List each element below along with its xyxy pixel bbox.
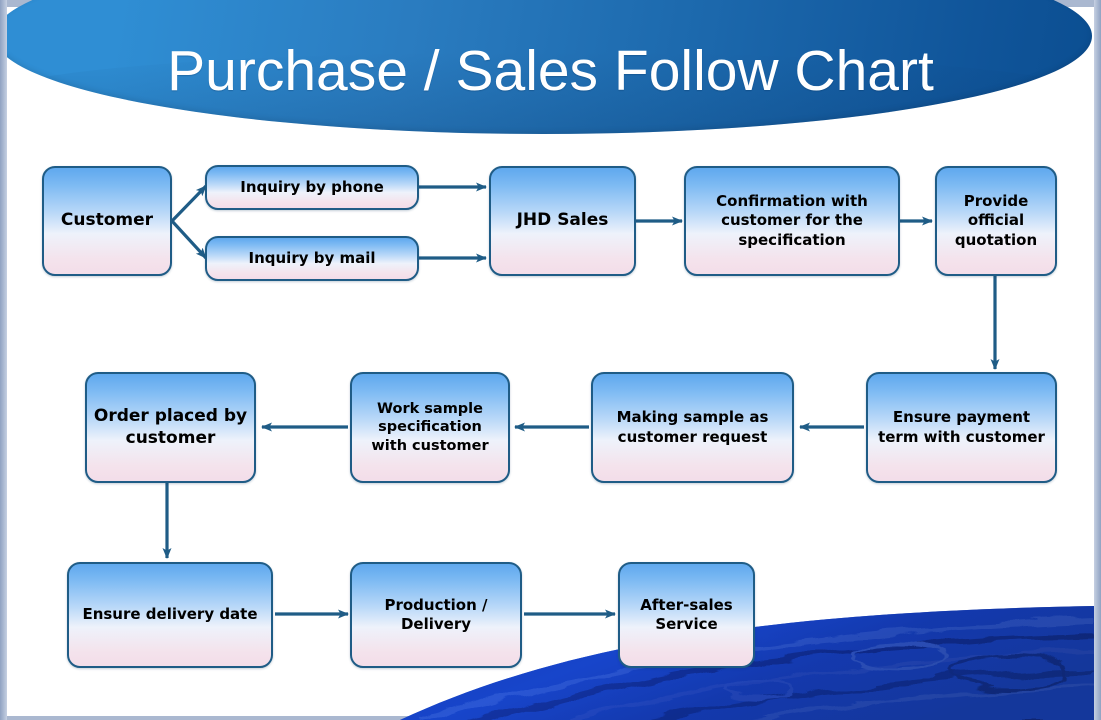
node-provide-quotation-label: Provide official quotation — [943, 192, 1049, 250]
node-making-sample[interactable]: Making sample as customer request — [591, 372, 794, 483]
node-order-placed-label: Order placed by customer — [93, 406, 248, 450]
node-ensure-payment-term-label: Ensure payment term with customer — [874, 408, 1049, 446]
node-work-sample-specification-label: Work sample specification with customer — [358, 400, 502, 456]
node-jhd-sales-label: JHD Sales — [517, 210, 609, 232]
node-ensure-delivery-date[interactable]: Ensure delivery date — [67, 562, 273, 668]
node-making-sample-label: Making sample as customer request — [599, 408, 786, 446]
node-customer-label: Customer — [61, 210, 153, 232]
node-after-sales-service[interactable]: After-sales Service — [618, 562, 755, 668]
node-inquiry-by-phone-label: Inquiry by phone — [240, 178, 384, 197]
node-jhd-sales[interactable]: JHD Sales — [489, 166, 636, 276]
node-production-delivery-label: Production / Delivery — [358, 596, 514, 634]
node-work-sample-specification[interactable]: Work sample specification with customer — [350, 372, 510, 483]
node-after-sales-service-label: After-sales Service — [626, 596, 747, 634]
slide-edge-left — [0, 0, 7, 720]
node-provide-quotation[interactable]: Provide official quotation — [935, 166, 1057, 276]
page-title: Purchase / Sales Follow Chart — [0, 38, 1101, 104]
node-confirmation-label: Confirmation with customer for the speci… — [692, 192, 892, 250]
node-ensure-payment-term[interactable]: Ensure payment term with customer — [866, 372, 1057, 483]
node-inquiry-by-phone[interactable]: Inquiry by phone — [205, 165, 419, 210]
node-inquiry-by-mail[interactable]: Inquiry by mail — [205, 236, 419, 281]
node-confirmation[interactable]: Confirmation with customer for the speci… — [684, 166, 900, 276]
node-order-placed[interactable]: Order placed by customer — [85, 372, 256, 483]
node-inquiry-by-mail-label: Inquiry by mail — [249, 249, 376, 268]
node-production-delivery[interactable]: Production / Delivery — [350, 562, 522, 668]
node-ensure-delivery-date-label: Ensure delivery date — [82, 605, 257, 624]
slide-canvas: Purchase / Sales Follow Chart — [0, 0, 1101, 720]
node-customer[interactable]: Customer — [42, 166, 172, 276]
slide-edge-right — [1094, 0, 1101, 720]
